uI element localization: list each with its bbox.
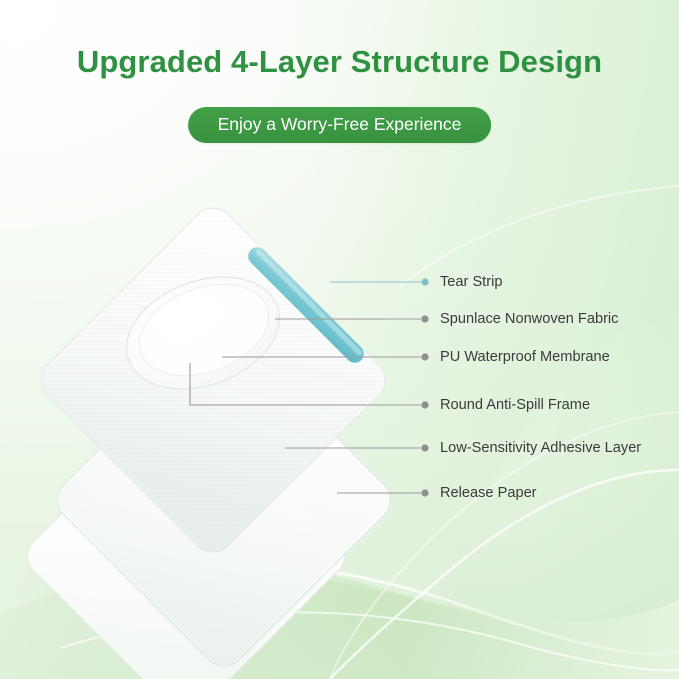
- callout-label-release-paper: Release Paper: [440, 485, 537, 501]
- leader-dot-release: [421, 489, 428, 496]
- callout-label-tear-strip: Tear Strip: [440, 274, 502, 290]
- callout-label-spunlace-nonwoven-fabric: Spunlace Nonwoven Fabric: [440, 311, 618, 327]
- leader-dot-tear-strip: [421, 278, 428, 285]
- leader-dot-spunlace: [421, 315, 428, 322]
- leader-line-frame: [190, 363, 421, 405]
- poster-canvas: Upgraded 4-Layer Structure Design Enjoy …: [0, 0, 679, 679]
- callout-label-round-anti-spill-frame: Round Anti-Spill Frame: [440, 397, 590, 413]
- callout-label-low-sensitivity-adhesive-layer: Low-Sensitivity Adhesive Layer: [440, 440, 641, 456]
- callout-label-pu-waterproof-membrane: PU Waterproof Membrane: [440, 349, 610, 365]
- leader-dot-membrane: [421, 353, 428, 360]
- leader-dot-frame: [421, 401, 428, 408]
- leader-dot-adhesive: [421, 444, 428, 451]
- callout-leaders: [0, 0, 679, 679]
